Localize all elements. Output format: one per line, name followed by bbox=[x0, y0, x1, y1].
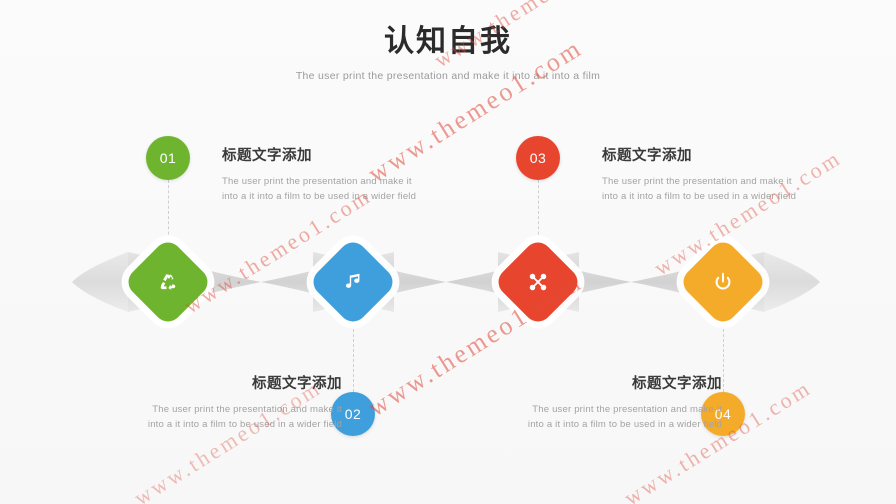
item-title-01: 标题文字添加 bbox=[222, 144, 422, 165]
slide-header: 认知自我 The user print the presentation and… bbox=[0, 24, 896, 82]
step-number-03: 03 bbox=[530, 150, 547, 166]
item-title-02: 标题文字添加 bbox=[142, 372, 342, 393]
step-number-01: 01 bbox=[160, 150, 177, 166]
item-title-04: 标题文字添加 bbox=[522, 372, 722, 393]
recycle-icon bbox=[157, 271, 179, 293]
item-body-03: The user print the presentation and make… bbox=[602, 174, 802, 204]
item-body-04: The user print the presentation and make… bbox=[522, 402, 722, 432]
page-title: 认知自我 bbox=[0, 24, 896, 60]
text-block-01: 标题文字添加 The user print the presentation a… bbox=[222, 144, 422, 204]
step-circle-01[interactable]: 01 bbox=[146, 136, 190, 180]
power-icon bbox=[712, 271, 734, 293]
connector-line-03 bbox=[538, 180, 539, 250]
connector-line-02 bbox=[353, 314, 354, 392]
page-subtitle: The user print the presentation and make… bbox=[0, 70, 896, 82]
text-block-03: 标题文字添加 The user print the presentation a… bbox=[602, 144, 802, 204]
text-block-02: 标题文字添加 The user print the presentation a… bbox=[142, 372, 342, 432]
joomla-icon bbox=[527, 271, 549, 293]
connector-line-04 bbox=[723, 314, 724, 392]
step-circle-03[interactable]: 03 bbox=[516, 136, 560, 180]
music-note-icon bbox=[342, 271, 364, 293]
item-body-02: The user print the presentation and make… bbox=[142, 402, 342, 432]
text-block-04: 标题文字添加 The user print the presentation a… bbox=[522, 372, 722, 432]
step-number-02: 02 bbox=[345, 406, 362, 422]
item-body-01: The user print the presentation and make… bbox=[222, 174, 422, 204]
item-title-03: 标题文字添加 bbox=[602, 144, 802, 165]
connector-line-01 bbox=[168, 180, 169, 250]
slide-canvas: 认知自我 The user print the presentation and… bbox=[0, 0, 896, 504]
